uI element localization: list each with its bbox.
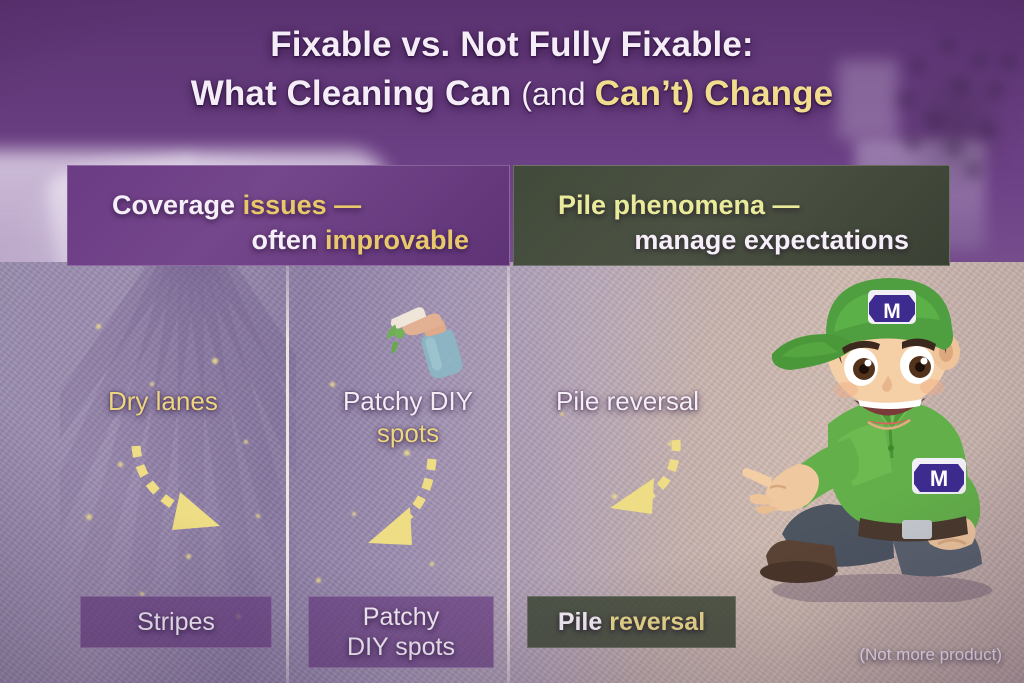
vignette-overlay <box>0 0 1024 683</box>
infographic-canvas: Fixable vs. Not Fully Fixable: What Clea… <box>0 0 1024 683</box>
